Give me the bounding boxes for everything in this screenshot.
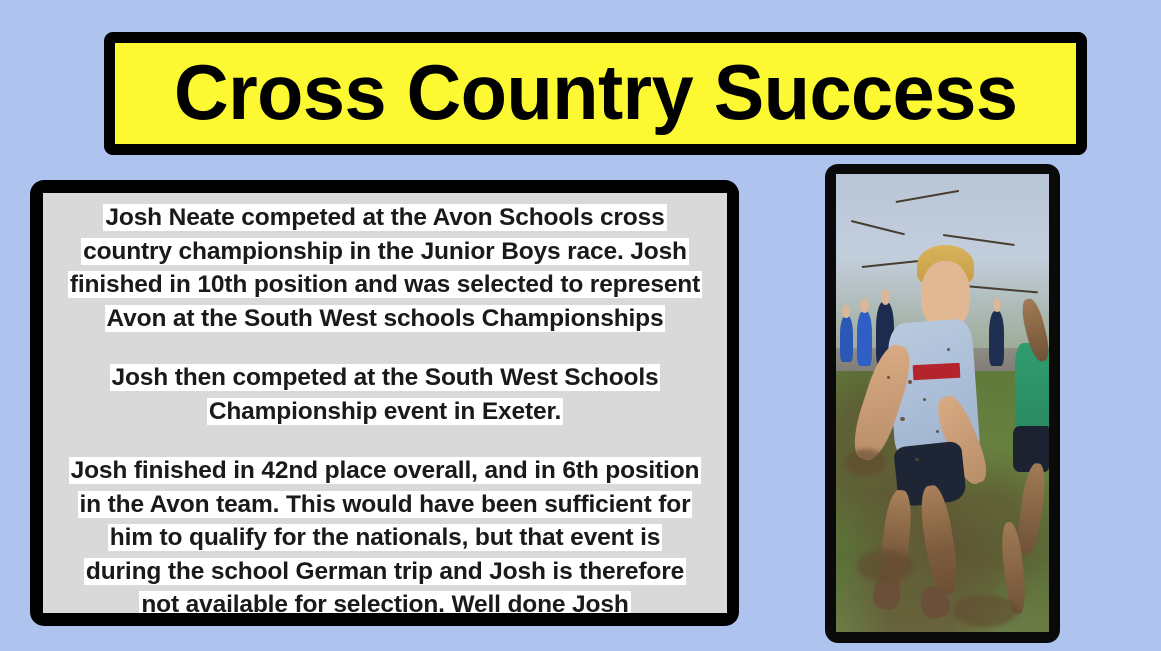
article-text-inner: Josh Neate competed at the Avon Schools …: [43, 193, 727, 613]
title-banner: Cross Country Success: [104, 32, 1087, 155]
second-runner-shorts: [1013, 426, 1049, 472]
text-line: Championship event in Exeter.: [46, 397, 724, 431]
runner-race-number: [912, 363, 960, 380]
text-line: Josh finished in 42nd place overall, and…: [46, 456, 724, 490]
mud-patch: [857, 550, 912, 582]
page-title: Cross Country Success: [174, 55, 1017, 129]
paragraph-spacer: [46, 337, 724, 363]
mud-fleck: [915, 458, 919, 461]
spectator: [857, 311, 872, 366]
mud-patch: [845, 449, 888, 476]
paragraph-3: Josh finished in 42nd place overall, and…: [46, 456, 724, 613]
photo-frame: [825, 164, 1060, 643]
paragraph-spacer: [46, 430, 724, 456]
text-line: in the Avon team. This would have been s…: [46, 490, 724, 524]
mud-fleck: [947, 348, 950, 351]
spectator-head: [842, 305, 849, 319]
text-line: country championship in the Junior Boys …: [46, 237, 724, 271]
text-line: Josh Neate competed at the Avon Schools …: [46, 203, 724, 237]
mud-fleck: [887, 376, 890, 379]
text-line: Avon at the South West schools Champions…: [46, 304, 724, 338]
mud-fleck: [900, 417, 905, 421]
paragraph-1: Josh Neate competed at the Avon Schools …: [46, 203, 724, 337]
paragraph-2: Josh then competed at the South West Sch…: [46, 363, 724, 430]
text-line: not available for selection. Well done J…: [46, 590, 724, 613]
article-text-panel: Josh Neate competed at the Avon Schools …: [30, 180, 739, 626]
spectator-head: [860, 298, 869, 314]
spectator: [989, 311, 1004, 366]
text-line: during the school German trip and Josh i…: [46, 557, 724, 591]
spectator: [840, 316, 853, 362]
text-line: finished in 10th position and was select…: [46, 270, 724, 304]
text-line: him to qualify for the nationals, but th…: [46, 523, 724, 557]
runner-photo: [836, 174, 1049, 632]
text-line: Josh then competed at the South West Sch…: [46, 363, 724, 397]
